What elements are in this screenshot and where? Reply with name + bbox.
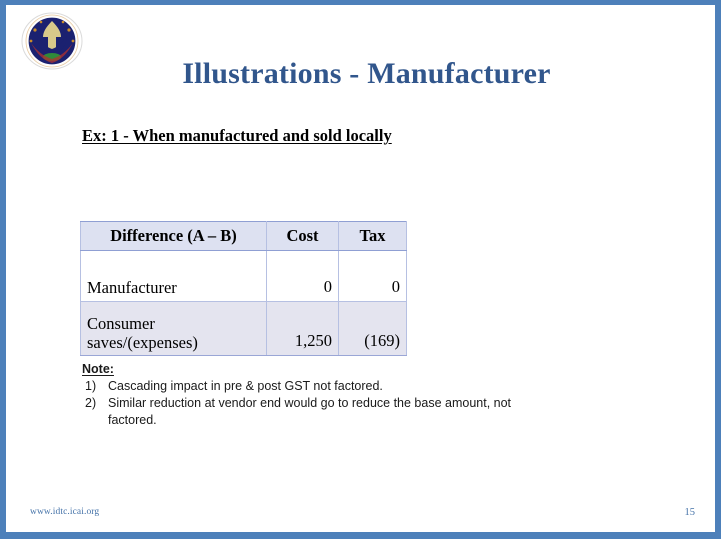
- row-tax-manufacturer: 0: [339, 251, 407, 302]
- column-header-cost: Cost: [267, 222, 339, 251]
- note-marker: 1): [82, 378, 108, 395]
- slide: Illustrations - Manufacturer Ex: 1 - Whe…: [0, 0, 721, 539]
- row-label-manufacturer: Manufacturer: [81, 251, 267, 302]
- column-header-tax: Tax: [339, 222, 407, 251]
- note-item: 1) Cascading impact in pre & post GST no…: [82, 378, 562, 395]
- slide-canvas: Illustrations - Manufacturer Ex: 1 - Whe…: [6, 5, 715, 532]
- table-header-row: Difference (A – B) Cost Tax: [81, 222, 407, 251]
- row-label-consumer: Consumer saves/(expenses): [81, 302, 267, 356]
- column-header-difference: Difference (A – B): [81, 222, 267, 251]
- example-subtitle: Ex: 1 - When manufactured and sold local…: [82, 125, 412, 147]
- note-text: Similar reduction at vendor end would go…: [108, 395, 562, 429]
- row-cost-consumer: 1,250: [267, 302, 339, 356]
- page-title: Illustrations - Manufacturer: [6, 57, 721, 91]
- note-marker: 2): [82, 395, 108, 412]
- note-text: Cascading impact in pre & post GST not f…: [108, 378, 562, 395]
- slide-page-number: 15: [685, 507, 696, 518]
- table-row: Manufacturer 0 0: [81, 251, 407, 302]
- notes-block: Note: 1) Cascading impact in pre & post …: [82, 362, 562, 429]
- note-item: 2) Similar reduction at vendor end would…: [82, 395, 562, 429]
- table-row: Consumer saves/(expenses) 1,250 (169): [81, 302, 407, 356]
- footer-website-link[interactable]: www.idtc.icai.org: [30, 507, 99, 517]
- difference-table: Difference (A – B) Cost Tax Manufacturer…: [80, 221, 407, 356]
- row-tax-consumer: (169): [339, 302, 407, 356]
- row-cost-manufacturer: 0: [267, 251, 339, 302]
- notes-heading: Note:: [82, 362, 562, 376]
- difference-table-wrapper: Difference (A – B) Cost Tax Manufacturer…: [80, 221, 407, 356]
